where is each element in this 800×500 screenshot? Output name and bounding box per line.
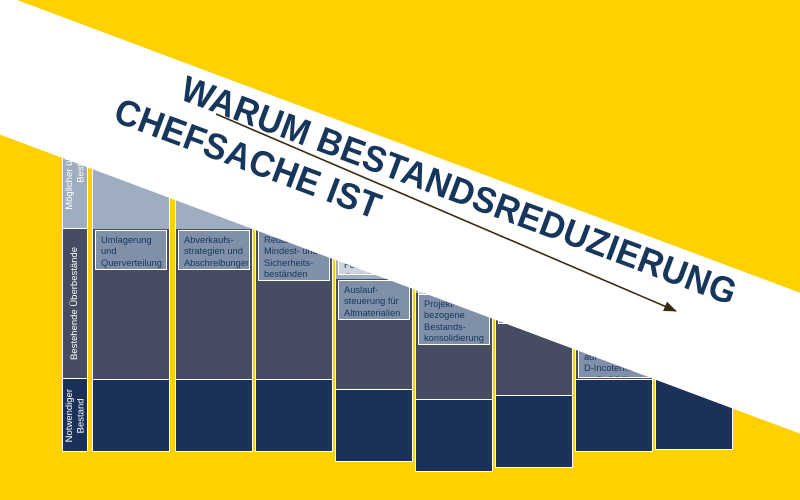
segment-notwendiger-bestand bbox=[336, 389, 412, 462]
segment-notwendiger-bestand bbox=[416, 399, 492, 472]
segment-notwendiger-bestand bbox=[176, 379, 252, 452]
segment-notwendiger-bestand bbox=[496, 395, 572, 468]
axis-zone-label: Notwendiger Bestand bbox=[64, 389, 87, 442]
segment-notwendiger-bestand bbox=[256, 379, 332, 452]
measure-label-secondary[interactable]: Auslauf- steuerung für Altmaterialien bbox=[338, 280, 410, 320]
measure-label-secondary[interactable]: Abverkaufs- strategien und Abschreibunge… bbox=[178, 230, 250, 270]
measure-label-secondary[interactable]: Umlagerung und Querverteilung bbox=[95, 230, 167, 270]
axis-zone-bestehende-ueberbestaende: Bestehende Überbestände bbox=[63, 229, 87, 379]
axis-zone-notwendiger-bestand: Notwendiger Bestand bbox=[63, 379, 87, 452]
infographic-canvas: Möglicher überhöhter Bestand Bestehende … bbox=[0, 0, 800, 500]
segment-notwendiger-bestand bbox=[93, 379, 169, 452]
axis-zone-label: Bestehende Überbestände bbox=[69, 247, 81, 360]
segment-notwendiger-bestand bbox=[576, 379, 652, 452]
